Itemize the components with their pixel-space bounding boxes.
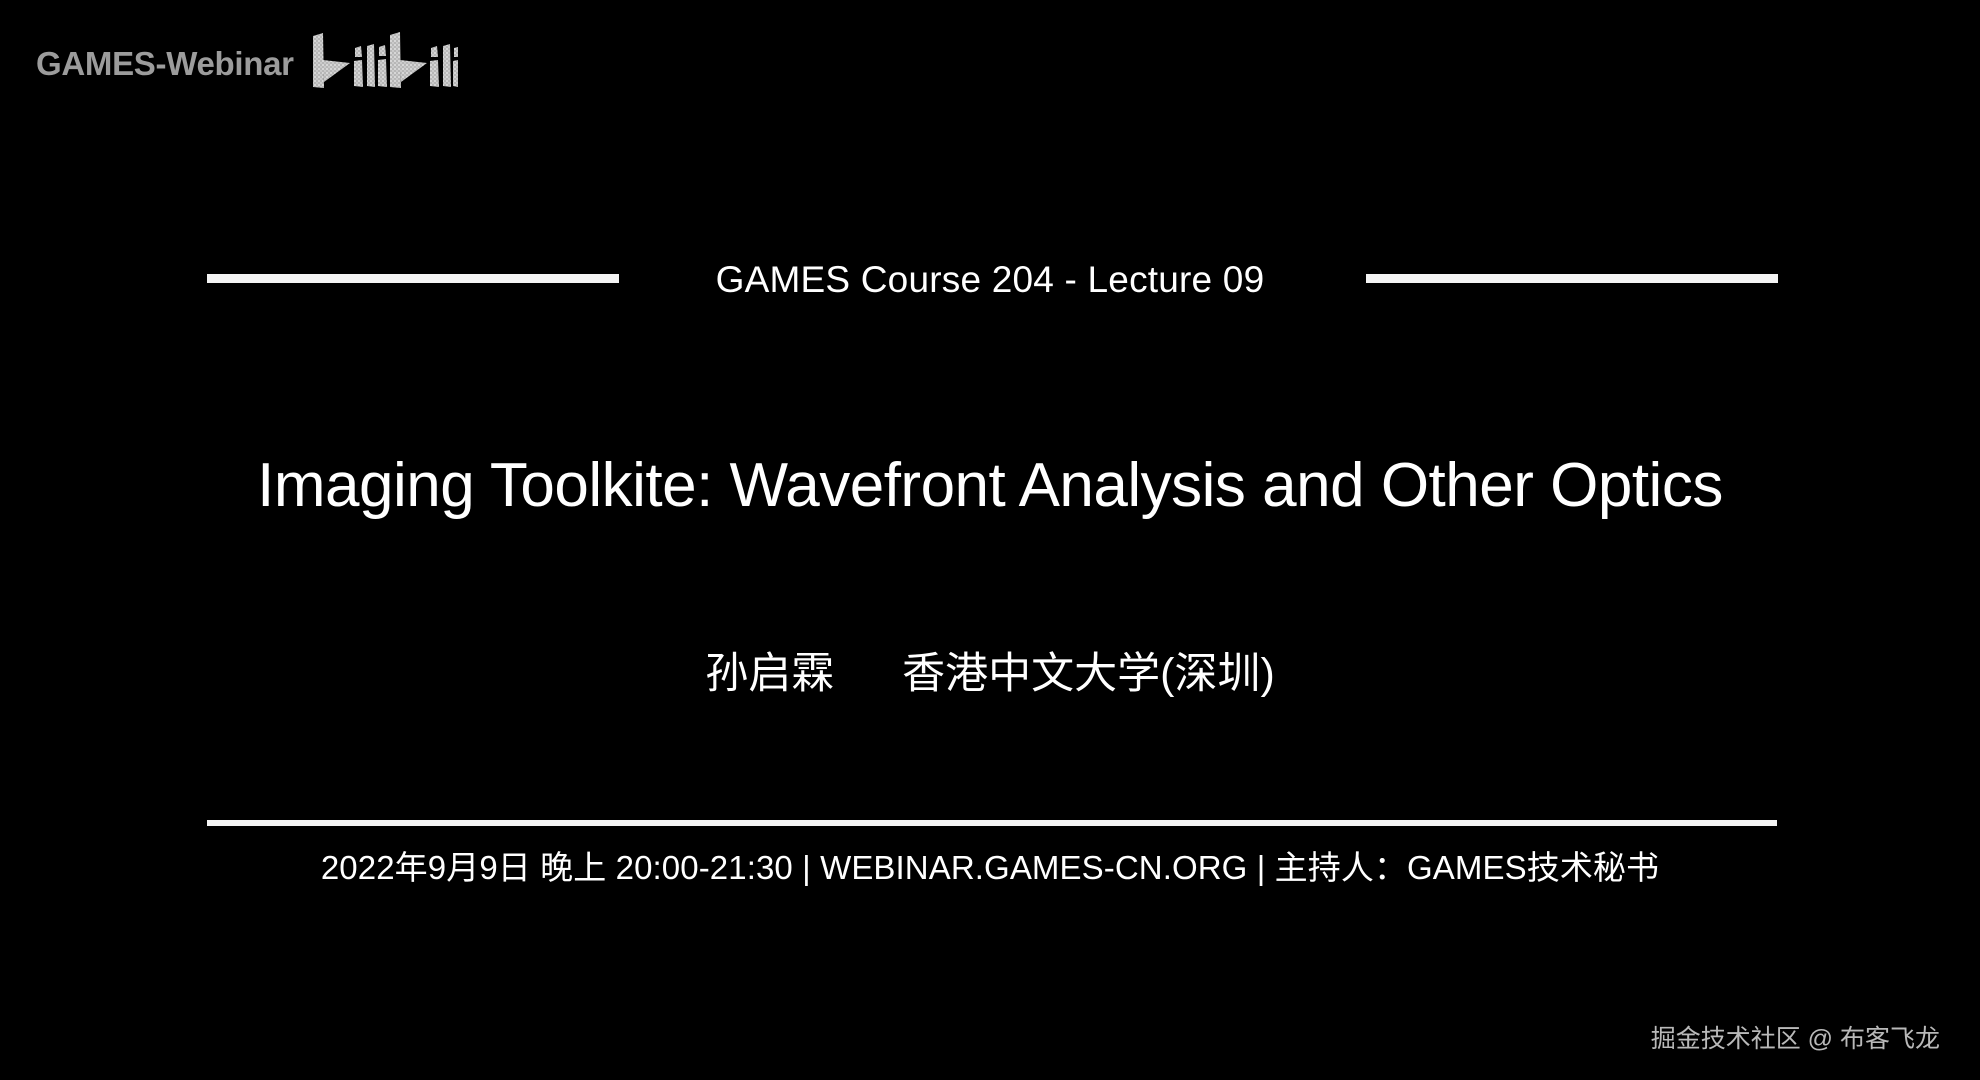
event-details: 2022年9月9日 晚上 20:00-21:30 | WEBINAR.GAMES… [0, 848, 1980, 888]
decorative-rule-left [207, 274, 619, 283]
brand-header: GAMES-Webinar [36, 36, 458, 90]
slide-root: GAMES-Webinar [0, 0, 1980, 1080]
course-line: GAMES Course 204 - Lecture 09 [0, 252, 1980, 322]
course-label: GAMES Course 204 - Lecture 09 [716, 261, 1265, 298]
decorative-rule-footer [207, 820, 1777, 826]
speaker-affiliation: 香港中文大学(深圳) [902, 650, 1275, 698]
bilibili-logo [310, 36, 458, 90]
watermark: 掘金技术社区 @ 布客飞龙 [1651, 1027, 1940, 1052]
lecture-title: Imaging Toolkite: Wavefront Analysis and… [0, 452, 1980, 520]
speaker-row: 孙启霖 香港中文大学(深圳) [0, 650, 1980, 699]
speaker-name: 孙启霖 [705, 650, 834, 698]
brand-title: GAMES-Webinar [36, 47, 294, 80]
decorative-rule-right [1366, 274, 1778, 283]
